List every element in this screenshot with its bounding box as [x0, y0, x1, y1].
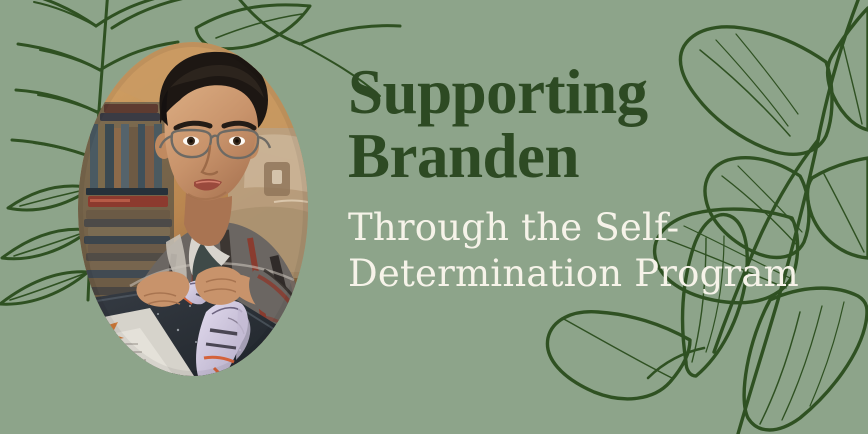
headline-line-1: Supporting	[348, 62, 818, 124]
subtitle-line-1: Through the Self-	[348, 205, 818, 250]
portrait-photo-image	[78, 42, 308, 376]
banner-canvas: Supporting Branden Through the Self- Det…	[0, 0, 868, 434]
subtitle-block: Through the Self- Determination Program	[348, 205, 818, 295]
subtitle-line-2: Determination Program	[348, 251, 818, 296]
portrait-photo	[78, 42, 308, 376]
text-block: Supporting Branden Through the Self- Det…	[348, 62, 818, 296]
headline-line-2: Branden	[348, 126, 818, 188]
